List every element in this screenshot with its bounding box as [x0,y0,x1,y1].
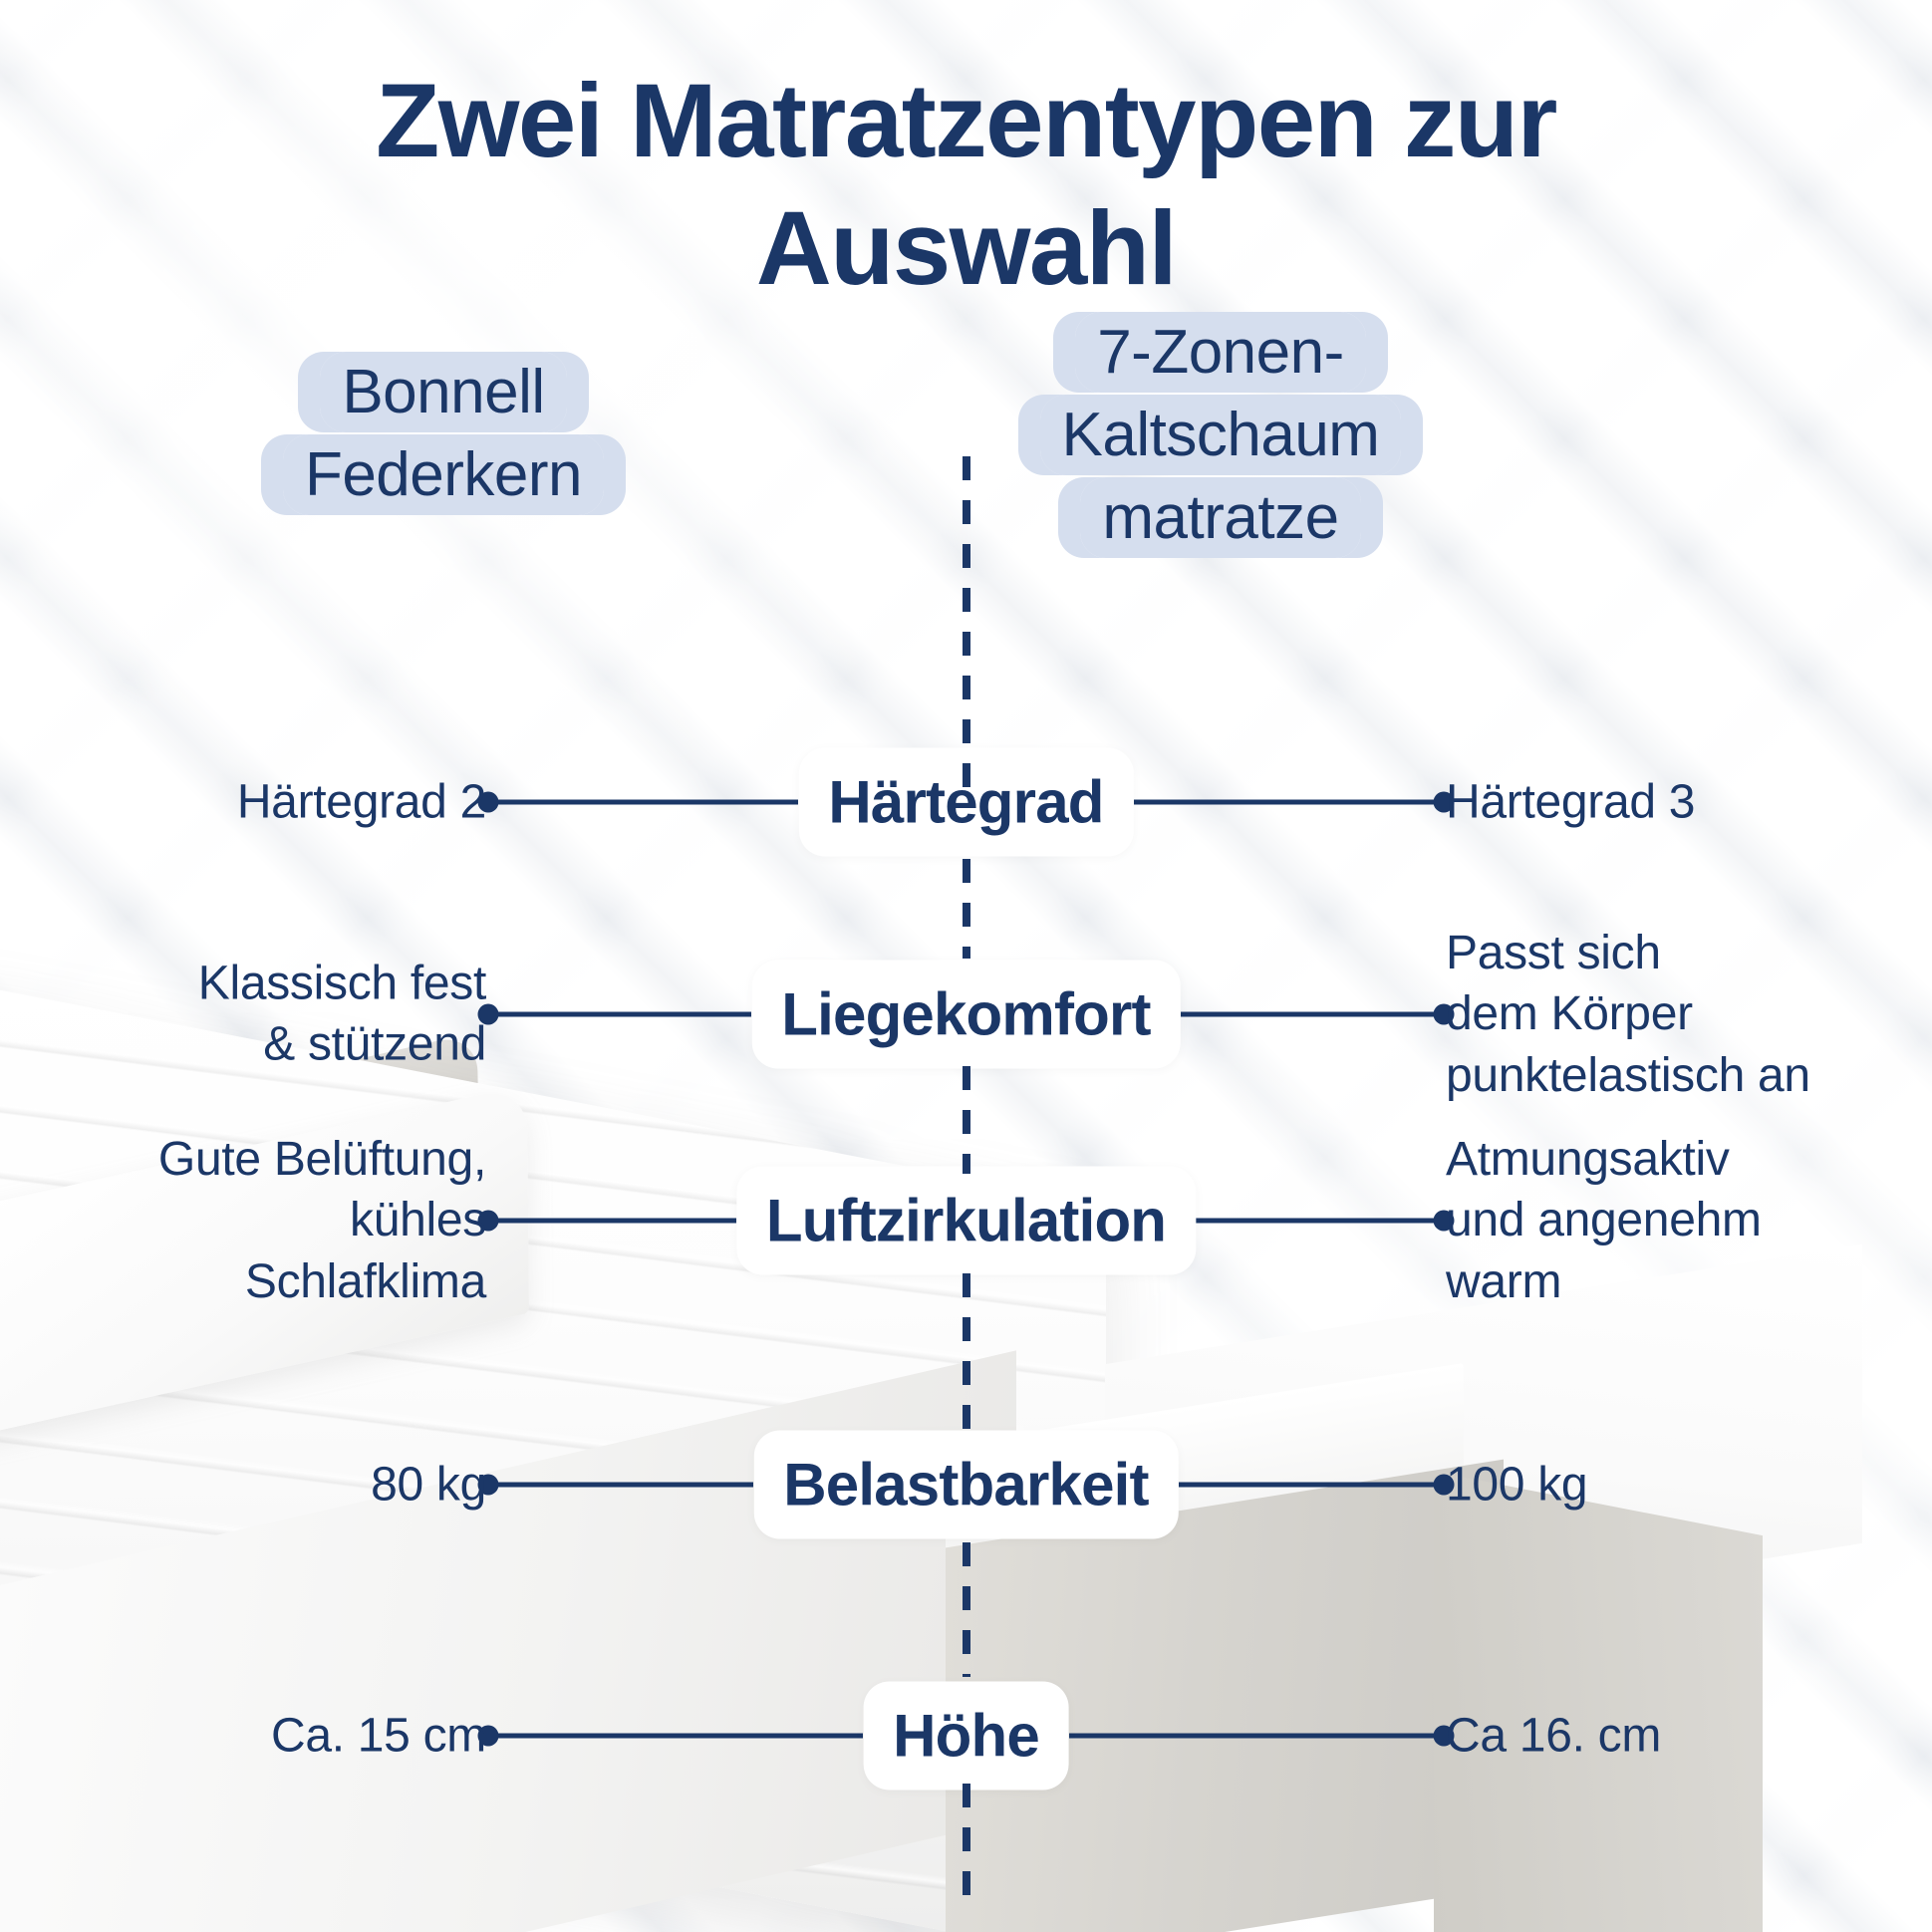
connector-line-left [488,800,798,805]
connector-line-left [488,1012,751,1017]
divider-dashed-top [963,456,970,800]
value-left: 80 kg [0,1454,486,1515]
connector-line-left [488,1219,736,1224]
divider-dashed-1 [963,859,970,959]
divider-dashed-2 [963,1066,970,1174]
connector-line-right [1134,800,1444,805]
value-left: Gute Belüftung,kühlesSchlafklima [0,1129,486,1312]
page-title: Zwei Matratzentypen zur Auswahl [159,58,1774,313]
column-header-left-line-2: Federkern [283,434,604,515]
column-header-right-line-1: 7-Zonen- [1075,312,1366,393]
connector-line-right [1069,1734,1444,1739]
value-right: 100 kg [1446,1454,1932,1515]
column-header-left-line-1: Bonnell [320,352,566,432]
divider-dashed-bottom [963,1784,970,1895]
value-right: Härtegrad 3 [1446,771,1932,832]
value-right: Ca 16. cm [1446,1705,1932,1766]
value-left: Klassisch fest& stützend [0,954,486,1076]
connector-line-right [1181,1012,1444,1017]
page-title-line-1: Zwei Matratzentypen zur [376,63,1556,179]
infographic-content: Zwei Matratzentypen zur Auswahl Bonnell … [0,0,1932,1932]
value-right: Atmungsaktivund angenehmwarm [1446,1129,1932,1312]
connector-line-left [488,1483,753,1488]
column-header-left: Bonnell Federkern [184,351,702,516]
connector-line-left [488,1734,863,1739]
column-header-right: 7-Zonen- Kaltschaum matratze [962,311,1480,559]
value-left: Ca. 15 cm [0,1705,486,1766]
value-left: Härtegrad 2 [0,771,486,832]
feature-label: Belastbarkeit [753,1431,1178,1539]
column-header-right-line-3: matratze [1080,477,1360,558]
connector-line-right [1179,1483,1444,1488]
value-right: Passt sichdem Körperpunktelastisch an [1446,923,1932,1106]
feature-label: Luftzirkulation [736,1167,1196,1275]
column-header-right-line-2: Kaltschaum [1040,395,1402,475]
connector-line-right [1196,1219,1444,1224]
divider-dashed-3 [963,1273,970,1443]
divider-dashed-4 [963,1542,970,1677]
feature-label: Liegekomfort [751,961,1180,1069]
page-title-line-2: Auswahl [756,190,1176,307]
feature-label: Höhe [863,1682,1069,1791]
